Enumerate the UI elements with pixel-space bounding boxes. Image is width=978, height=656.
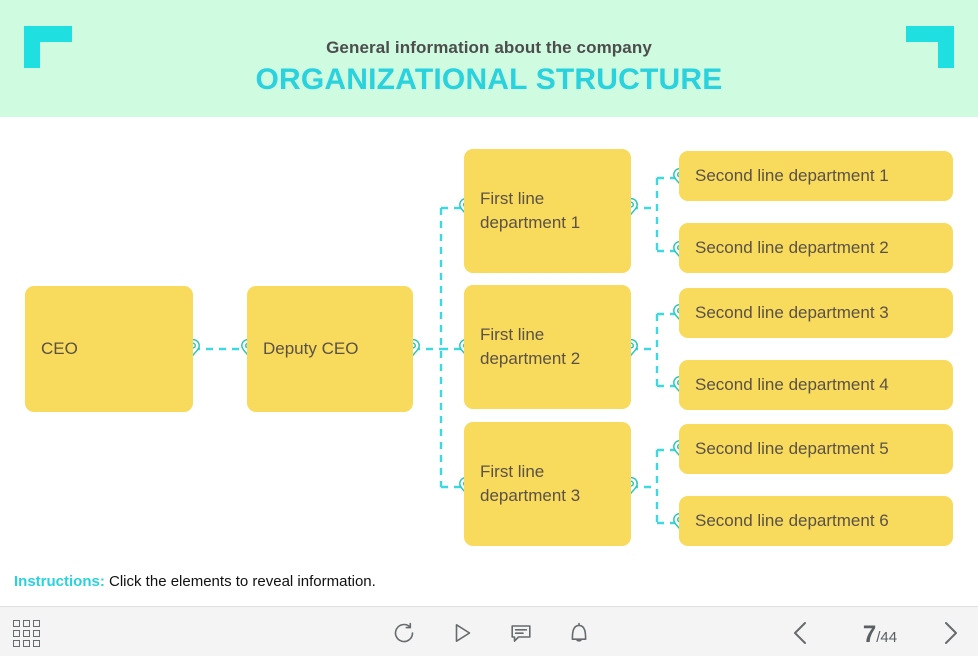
instructions-label: Instructions: [14,573,105,590]
org-node-second-line-1[interactable]: Second line department 1 [679,151,953,201]
page-title: ORGANIZATIONAL STRUCTURE [0,63,978,97]
org-node-label: CEO [41,337,78,361]
prev-chevron-icon[interactable] [786,618,816,648]
org-node-first-line-2[interactable]: First line department 2 [464,285,631,409]
org-node-second-line-3[interactable]: Second line department 3 [679,288,953,338]
instructions-bar: Instructions: Click the elements to reve… [14,573,376,590]
org-node-deputy-ceo[interactable]: Deputy CEO [247,286,413,412]
bell-icon[interactable] [563,619,595,647]
player-toolbar: 7/44 [0,606,978,656]
org-node-label: Second line department 3 [695,301,889,325]
org-node-second-line-5[interactable]: Second line department 5 [679,424,953,474]
page-current: 7 [863,621,876,648]
org-node-first-line-1[interactable]: First line department 1 [464,149,631,273]
org-node-second-line-4[interactable]: Second line department 4 [679,360,953,410]
org-node-label: Second line department 4 [695,373,889,397]
org-node-label: Second line department 2 [695,236,889,260]
org-node-second-line-6[interactable]: Second line department 6 [679,496,953,546]
org-node-label: Second line department 1 [695,164,889,188]
page-indicator: 7/44 [838,621,922,649]
org-node-label: First line department 1 [480,187,590,235]
org-chart-canvas: CEO Deputy CEO First line department 1 F… [0,117,978,567]
slide-header: General information about the company OR… [0,0,978,117]
org-node-label: First line department 3 [480,460,590,508]
org-node-first-line-3[interactable]: First line department 3 [464,422,631,546]
replay-icon[interactable] [388,619,420,647]
next-chevron-icon[interactable] [935,618,965,648]
org-node-second-line-2[interactable]: Second line department 2 [679,223,953,273]
page-total: /44 [876,629,897,646]
org-node-ceo[interactable]: CEO [25,286,193,412]
org-node-label: Second line department 6 [695,509,889,533]
comment-icon[interactable] [505,619,537,647]
play-icon[interactable] [446,619,478,647]
org-node-label: Deputy CEO [263,337,358,361]
org-node-label: Second line department 5 [695,437,889,461]
instructions-text: Click the elements to reveal information… [109,573,376,590]
grid-icon-cells [13,620,40,647]
header-subtitle: General information about the company [0,38,978,58]
slide-root: General information about the company OR… [0,0,978,656]
grid-icon[interactable] [10,619,42,647]
org-node-label: First line department 2 [480,323,590,371]
